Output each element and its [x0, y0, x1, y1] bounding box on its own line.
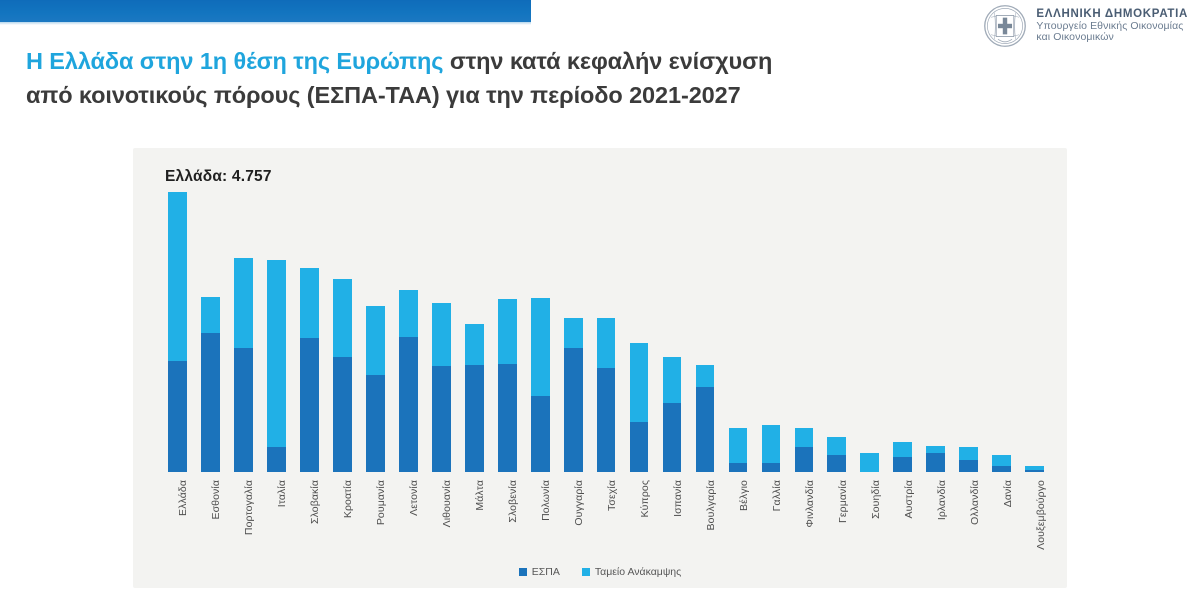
bar-segment-espa[interactable]	[893, 457, 912, 472]
stacked-bar[interactable]	[498, 299, 517, 472]
bar-slot	[524, 192, 557, 472]
stacked-bar[interactable]	[630, 343, 649, 472]
x-axis-label-Λετονία: Λετονία	[408, 480, 420, 516]
bar-slot	[590, 192, 623, 472]
bar-segment-espa[interactable]	[663, 403, 682, 472]
bar-segment-rrf[interactable]	[564, 318, 583, 349]
bar-segment-espa[interactable]	[399, 337, 418, 472]
bar-segment-espa[interactable]	[465, 365, 484, 472]
page-title-line-1: Η Ελλάδα στην 1η θέση της Ευρώπης στην κ…	[26, 44, 1026, 78]
bar-segment-espa[interactable]	[564, 348, 583, 472]
bar-segment-espa[interactable]	[366, 375, 385, 472]
stacked-bar[interactable]	[893, 442, 912, 472]
bar-segment-rrf[interactable]	[696, 365, 715, 387]
x-axis-label-Γαλλία: Γαλλία	[771, 480, 783, 511]
stacked-bar[interactable]	[267, 260, 286, 472]
x-axis-label-Κύπρος: Κύπρος	[639, 480, 651, 517]
bar-slot	[919, 192, 952, 472]
x-axis-label-Ελλάδα: Ελλάδα	[177, 480, 189, 516]
bar-slot	[425, 192, 458, 472]
x-axis-label-Ιταλία: Ιταλία	[276, 480, 288, 507]
page-title-line-2: από κοινοτικούς πόρους (ΕΣΠΑ-ΤΑΑ) για τη…	[26, 78, 1026, 112]
bar-segment-espa[interactable]	[300, 338, 319, 472]
bar-segment-espa[interactable]	[827, 455, 846, 472]
bar-slot	[458, 192, 491, 472]
stacked-bar[interactable]	[827, 437, 846, 472]
legend-item[interactable]: Ταμείο Ανάκαμψης	[582, 566, 681, 578]
top-accent-banner-fade	[0, 22, 531, 25]
stacked-bar[interactable]	[333, 279, 352, 472]
x-axis-label-Σλοβακία: Σλοβακία	[309, 480, 321, 524]
bar-segment-rrf[interactable]	[498, 299, 517, 364]
bar-slot	[1018, 192, 1051, 472]
bar-slot	[689, 192, 722, 472]
stacked-bar[interactable]	[795, 428, 814, 472]
bar-slot	[359, 192, 392, 472]
stacked-bar[interactable]	[597, 318, 616, 472]
legend-label: ΕΣΠΑ	[532, 566, 560, 578]
bar-segment-rrf[interactable]	[168, 192, 187, 361]
bar-segment-rrf[interactable]	[663, 357, 682, 403]
stacked-bar[interactable]	[432, 303, 451, 472]
bar-segment-espa[interactable]	[333, 357, 352, 472]
bar-slot	[853, 192, 886, 472]
x-axis-label-Ρουμανία: Ρουμανία	[375, 480, 387, 525]
x-axis-label-Γερμανία: Γερμανία	[837, 480, 849, 523]
ministry-logo: ΕΛΛΗΝΙΚΗ ΔΗΜΟΚΡΑΤΙΑ Υπουργείο Εθνικής Οι…	[983, 4, 1188, 48]
x-axis-label-Ιρλανδία: Ιρλανδία	[936, 480, 948, 520]
bar-segment-espa[interactable]	[696, 387, 715, 472]
bar-segment-rrf[interactable]	[465, 324, 484, 365]
bar-segment-rrf[interactable]	[992, 455, 1011, 466]
bar-slot	[985, 192, 1018, 472]
stacked-bar[interactable]	[762, 425, 781, 472]
bar-segment-rrf[interactable]	[926, 446, 945, 453]
rrf-swatch	[582, 568, 590, 576]
x-axis-label-Σλοβενία: Σλοβενία	[507, 480, 519, 523]
stacked-bar[interactable]	[531, 298, 550, 472]
bar-segment-rrf[interactable]	[630, 343, 649, 422]
page-title: Η Ελλάδα στην 1η θέση της Ευρώπης στην κ…	[26, 44, 1026, 112]
top-accent-banner	[0, 0, 531, 22]
stacked-bar[interactable]	[564, 318, 583, 472]
bar-slot	[886, 192, 919, 472]
x-axis-label-Εσθονία: Εσθονία	[210, 480, 222, 520]
x-axis-label-Αυστρία: Αυστρία	[903, 480, 915, 518]
bar-segment-espa[interactable]	[729, 463, 748, 472]
stacked-bar[interactable]	[729, 428, 748, 472]
x-axis-label-Μάλτα: Μάλτα	[474, 480, 486, 511]
bar-slot	[392, 192, 425, 472]
bar-segment-espa[interactable]	[498, 364, 517, 472]
x-axis-label-Λιθουανία: Λιθουανία	[441, 480, 453, 527]
logo-subtitle-line2: και Οικονομικών	[1036, 32, 1188, 44]
bar-slot	[491, 192, 524, 472]
bar-slot	[623, 192, 656, 472]
bar-segment-rrf[interactable]	[267, 260, 286, 447]
stacked-bar[interactable]	[366, 306, 385, 472]
page-title-accent: Η Ελλάδα στην 1η θέση της Ευρώπης	[26, 48, 450, 74]
x-axis-label-Πορτογαλία: Πορτογαλία	[243, 480, 255, 535]
bar-slot	[656, 192, 689, 472]
bar-segment-rrf[interactable]	[234, 258, 253, 347]
bar-segment-espa[interactable]	[630, 422, 649, 472]
bar-segment-rrf[interactable]	[729, 428, 748, 462]
legend-item[interactable]: ΕΣΠΑ	[519, 566, 560, 578]
legend-label: Ταμείο Ανάκαμψης	[595, 566, 681, 578]
bar-segment-rrf[interactable]	[333, 279, 352, 357]
x-axis-label-Βέλγιο: Βέλγιο	[738, 480, 750, 511]
bar-segment-rrf[interactable]	[893, 442, 912, 457]
stacked-bar[interactable]	[992, 455, 1011, 472]
bar-segment-espa[interactable]	[1025, 470, 1044, 472]
stacked-bar[interactable]	[1025, 466, 1044, 472]
bar-slot	[721, 192, 754, 472]
stacked-bar[interactable]	[168, 192, 187, 472]
bar-segment-espa[interactable]	[762, 463, 781, 472]
bar-segment-rrf[interactable]	[366, 306, 385, 375]
bar-segment-rrf[interactable]	[300, 268, 319, 338]
stacked-bar[interactable]	[465, 324, 484, 472]
x-axis-label-Φινλανδία: Φινλανδία	[804, 480, 816, 528]
bar-segment-espa[interactable]	[267, 447, 286, 472]
bar-slot	[754, 192, 787, 472]
bar-segment-rrf[interactable]	[201, 297, 220, 333]
stacked-bar[interactable]	[663, 357, 682, 472]
logo-title: ΕΛΛΗΝΙΚΗ ΔΗΜΟΚΡΑΤΙΑ	[1036, 8, 1188, 21]
bar-segment-rrf[interactable]	[432, 303, 451, 366]
stacked-bar[interactable]	[201, 297, 220, 472]
stacked-bar[interactable]	[696, 365, 715, 472]
bar-segment-espa[interactable]	[926, 453, 945, 472]
x-axis-label-Κροατία: Κροατία	[342, 480, 354, 518]
bar-segment-rrf[interactable]	[795, 428, 814, 447]
x-axis-label-Πολωνία: Πολωνία	[540, 480, 552, 521]
bar-segment-espa[interactable]	[168, 361, 187, 472]
stacked-bar[interactable]	[300, 268, 319, 472]
bar-slot	[557, 192, 590, 472]
bar-segment-rrf[interactable]	[959, 447, 978, 460]
x-axis-label-Λουξεμβούργο: Λουξεμβούργο	[1035, 480, 1047, 550]
x-axis-label-Ουγγαρία: Ουγγαρία	[573, 480, 585, 526]
stacked-bar[interactable]	[234, 258, 253, 472]
bar-slot	[820, 192, 853, 472]
bar-slot	[161, 192, 194, 472]
bar-segment-espa[interactable]	[201, 333, 220, 472]
stacked-bar[interactable]	[860, 453, 879, 472]
bar-segment-espa[interactable]	[795, 447, 814, 472]
bar-segment-espa[interactable]	[432, 366, 451, 472]
x-axis-label-Ισπανία: Ισπανία	[672, 480, 684, 517]
bar-segment-rrf[interactable]	[827, 437, 846, 455]
stacked-bar[interactable]	[399, 290, 418, 472]
bar-slot	[952, 192, 985, 472]
bar-segment-rrf[interactable]	[762, 425, 781, 463]
bar-segment-rrf[interactable]	[531, 298, 550, 396]
bar-slot	[260, 192, 293, 472]
bar-segment-espa[interactable]	[234, 348, 253, 472]
x-axis-label-Βουλγαρία: Βουλγαρία	[705, 480, 717, 530]
bar-slot	[326, 192, 359, 472]
bar-slot	[227, 192, 260, 472]
stacked-bar[interactable]	[959, 447, 978, 472]
x-axis-label-Δανία: Δανία	[1002, 480, 1014, 507]
bar-segment-rrf[interactable]	[597, 318, 616, 369]
x-axis-label-Τσεχία: Τσεχία	[606, 480, 618, 511]
bar-slot	[194, 192, 227, 472]
bar-segment-espa[interactable]	[959, 460, 978, 472]
x-axis-label-Ολλανδία: Ολλανδία	[969, 480, 981, 525]
stacked-bar[interactable]	[926, 446, 945, 472]
chart-panel: Ελλάδα: 4.757 ΕλλάδαΕσθονίαΠορτογαλίαΙτα…	[133, 148, 1067, 588]
bar-segment-espa[interactable]	[531, 396, 550, 473]
bar-segment-espa[interactable]	[992, 466, 1011, 472]
chart-legend: ΕΣΠΑΤαμείο Ανάκαμψης	[133, 566, 1067, 578]
page-title-rest: στην κατά κεφαλήν ενίσχυση	[450, 48, 773, 74]
bar-chart-plot-area	[161, 192, 1051, 472]
espa-swatch	[519, 568, 527, 576]
bar-slot	[787, 192, 820, 472]
x-axis-label-Σουηδία: Σουηδία	[870, 480, 882, 519]
bar-segment-rrf[interactable]	[860, 453, 879, 472]
bar-segment-rrf[interactable]	[399, 290, 418, 337]
bar-segment-espa[interactable]	[597, 368, 616, 472]
greece-value-callout: Ελλάδα: 4.757	[165, 168, 272, 186]
greek-coat-of-arms-icon	[983, 4, 1027, 48]
bar-slot	[293, 192, 326, 472]
